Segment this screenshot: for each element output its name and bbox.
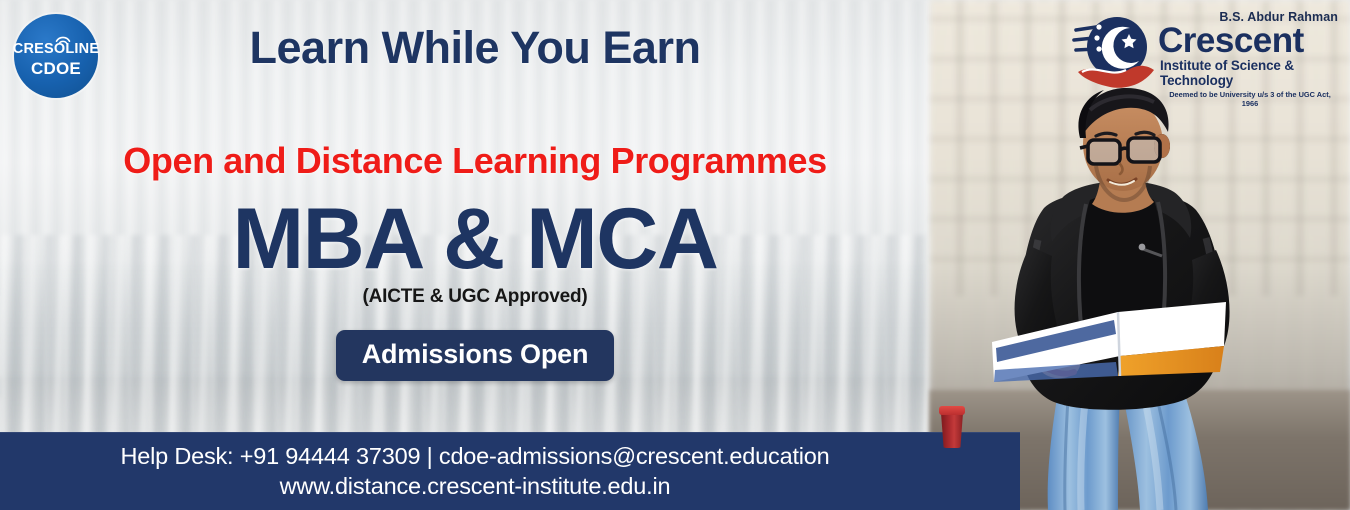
crescent-title: Crescent	[1158, 24, 1340, 57]
student-reading-book-photo	[968, 80, 1298, 510]
website-line[interactable]: www.distance.crescent-institute.edu.in	[280, 473, 671, 500]
headline: Learn While You Earn	[0, 22, 950, 74]
coffee-cup-body	[941, 413, 963, 448]
crescent-moon-star-emblem	[1072, 14, 1158, 90]
cta-container: Admissions Open	[0, 330, 950, 381]
footer-text-block: Help Desk: +91 94444 37309 | cdoe-admiss…	[0, 432, 950, 510]
contact-footer-bar: Help Desk: +91 94444 37309 | cdoe-admiss…	[0, 432, 1020, 510]
admissions-open-button[interactable]: Admissions Open	[336, 330, 615, 381]
coffee-cup-lid	[939, 406, 965, 415]
approval-note: (AICTE & UGC Approved)	[0, 286, 950, 308]
promo-banner: CRESOLINE CDOE B.S. Abdur Rahman Crescen…	[0, 0, 1350, 510]
subheadline: Open and Distance Learning Programmes	[0, 140, 950, 182]
eyeglasses-icon	[1080, 138, 1160, 164]
red-coffee-cup	[939, 406, 965, 448]
programme-title: MBA & MCA	[0, 196, 950, 282]
help-desk-line[interactable]: Help Desk: +91 94444 37309 | cdoe-admiss…	[120, 443, 829, 470]
